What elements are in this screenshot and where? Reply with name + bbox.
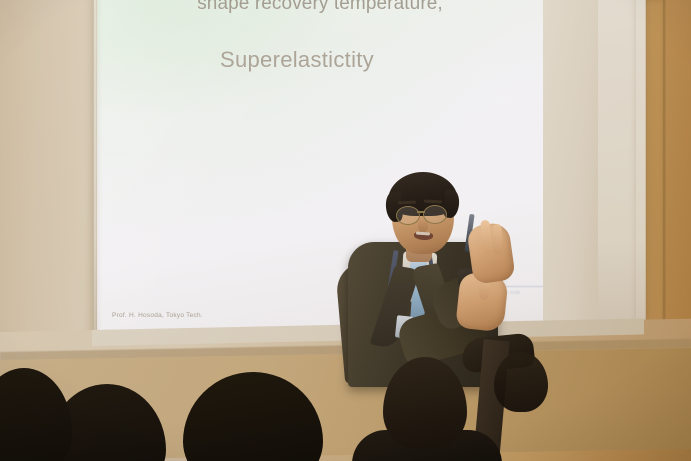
presenter-nose	[418, 219, 428, 232]
glasses-bridge-icon	[417, 211, 425, 213]
lecture-photo-scene: morphous alloys having a shape recovery …	[0, 0, 691, 461]
slide-footer-credit: Prof. H. Hosoda, Tokyo Tech.	[112, 312, 203, 319]
slide-line-primary: shape recovery temperature,	[107, 0, 533, 15]
presenter-finger-upper-b	[492, 224, 502, 254]
slide-heading-superelastictity: Superelastictity	[97, 47, 497, 73]
audience-head-far-right	[494, 352, 548, 412]
presenter-hand-upper	[466, 221, 516, 284]
glasses-lens-left-icon	[396, 206, 420, 225]
